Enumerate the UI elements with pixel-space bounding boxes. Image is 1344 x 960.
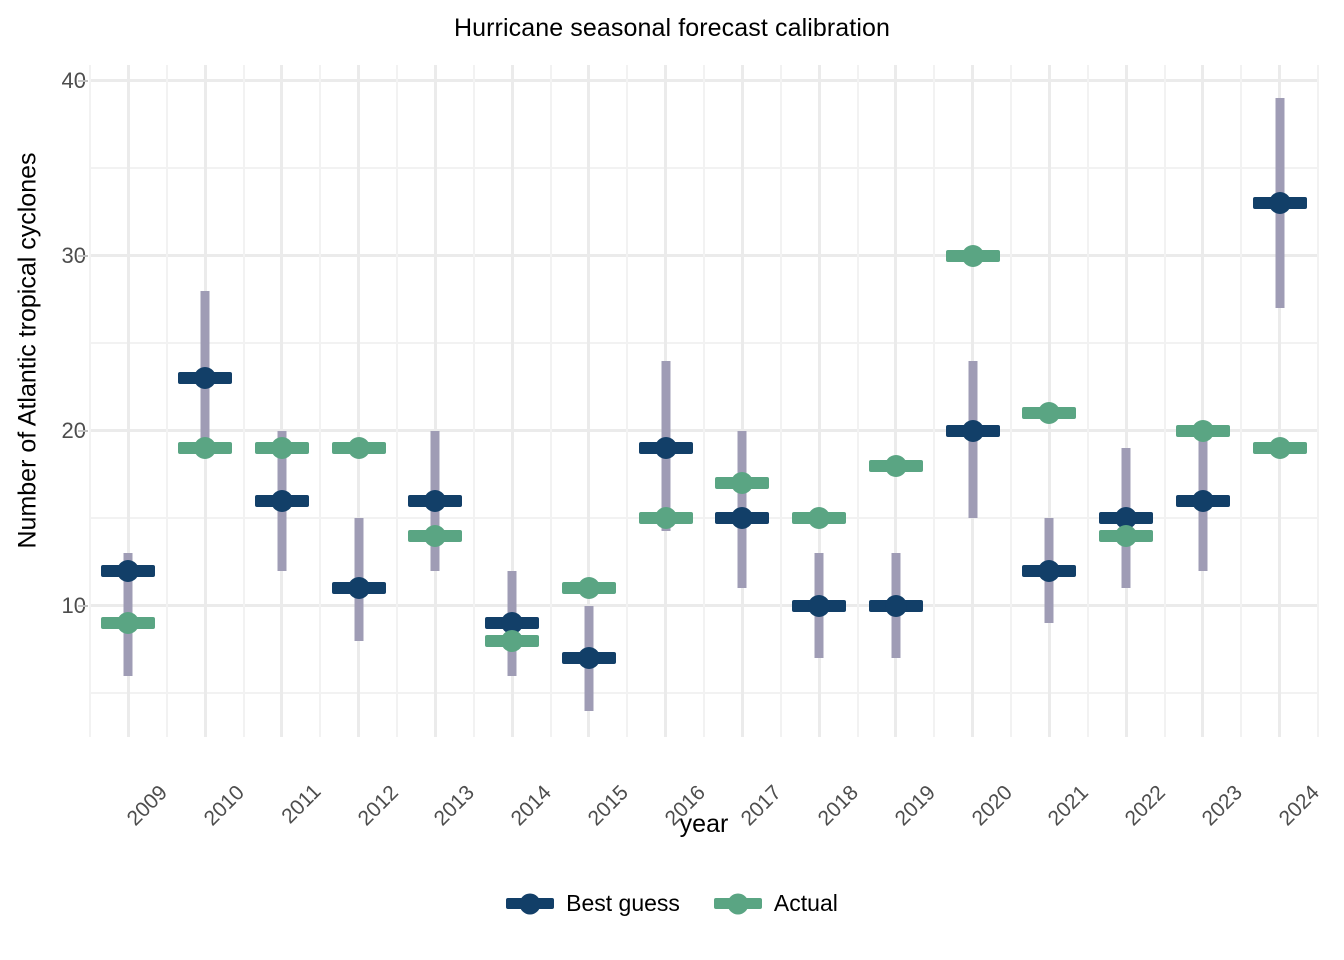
gridline-vertical-major [280, 65, 283, 737]
data-point-actual [255, 442, 309, 454]
data-point-dot [885, 595, 907, 617]
data-point-dot [501, 630, 523, 652]
y-tick-label: 10 [26, 593, 86, 619]
data-point-best-guess [255, 495, 309, 507]
y-tick-label: 40 [26, 68, 86, 94]
data-point-actual [562, 582, 616, 594]
data-point-dot [348, 437, 370, 459]
gridline-vertical-minor [473, 65, 475, 737]
data-point-dot [117, 612, 139, 634]
data-point-best-guess [178, 372, 232, 384]
data-point-actual [408, 530, 462, 542]
data-point-best-guess [715, 512, 769, 524]
data-point-dot [424, 525, 446, 547]
data-point-actual [101, 617, 155, 629]
plot-area [90, 65, 1318, 737]
legend-label: Actual [774, 890, 838, 917]
data-point-dot [578, 647, 600, 669]
gridline-vertical-minor [1240, 65, 1242, 737]
data-point-dot [348, 577, 370, 599]
gridline-vertical-major [434, 65, 437, 737]
data-point-dot [731, 507, 753, 529]
gridline-vertical-major [1201, 65, 1204, 737]
data-point-dot [1269, 192, 1291, 214]
data-point-dot [1192, 420, 1214, 442]
data-point-actual [1022, 407, 1076, 419]
data-point-best-guess [332, 582, 386, 594]
legend-item-best-guess[interactable]: Best guess [506, 890, 680, 917]
gridline-vertical-minor [1317, 65, 1319, 737]
data-point-best-guess [946, 425, 1000, 437]
data-point-actual [1099, 530, 1153, 542]
data-point-dot [655, 437, 677, 459]
gridline-vertical-minor [857, 65, 859, 737]
data-point-best-guess [101, 565, 155, 577]
data-point-dot [1269, 437, 1291, 459]
data-point-actual [1176, 425, 1230, 437]
gridline-vertical-minor [1010, 65, 1012, 737]
data-point-dot [578, 577, 600, 599]
data-point-dot [1038, 402, 1060, 424]
gridline-vertical-minor [89, 65, 91, 737]
data-point-dot [885, 455, 907, 477]
data-point-best-guess [1099, 512, 1153, 524]
gridline-vertical-minor [166, 65, 168, 737]
gridline-vertical-minor [933, 65, 935, 737]
gridline-vertical-major [1125, 65, 1128, 737]
data-point-best-guess [1176, 495, 1230, 507]
data-point-dot [194, 437, 216, 459]
data-point-dot [1038, 560, 1060, 582]
data-point-actual [1253, 442, 1307, 454]
data-point-dot [271, 490, 293, 512]
data-point-dot [424, 490, 446, 512]
data-point-dot [194, 367, 216, 389]
gridline-vertical-minor [1164, 65, 1166, 737]
legend-key-marker-icon [506, 898, 554, 909]
gridline-vertical-minor [780, 65, 782, 737]
data-point-best-guess [869, 600, 923, 612]
data-point-actual [485, 635, 539, 647]
data-point-best-guess [792, 600, 846, 612]
legend-key-dot [520, 893, 541, 914]
legend-key-dot [727, 893, 748, 914]
data-point-actual [178, 442, 232, 454]
data-point-actual [639, 512, 693, 524]
data-point-best-guess [485, 617, 539, 629]
chart-title: Hurricane seasonal forecast calibration [0, 14, 1344, 43]
chart-container: Hurricane seasonal forecast calibration … [0, 0, 1344, 960]
data-point-dot [808, 595, 830, 617]
gridline-vertical-minor [550, 65, 552, 737]
data-point-actual [869, 460, 923, 472]
gridline-vertical-minor [396, 65, 398, 737]
gridline-vertical-minor [626, 65, 628, 737]
legend-item-actual[interactable]: Actual [714, 890, 838, 917]
data-point-actual [792, 512, 846, 524]
legend-key-marker-icon [714, 898, 762, 909]
data-point-dot [271, 437, 293, 459]
data-point-dot [962, 420, 984, 442]
y-tick-label: 20 [26, 418, 86, 444]
data-point-dot [731, 472, 753, 494]
data-point-actual [715, 477, 769, 489]
y-tick-mark [78, 605, 88, 607]
gridline-vertical-minor [703, 65, 705, 737]
legend-label: Best guess [566, 890, 680, 917]
data-point-dot [1115, 525, 1137, 547]
y-tick-mark [78, 80, 88, 82]
data-point-best-guess [408, 495, 462, 507]
data-point-best-guess [562, 652, 616, 664]
data-point-actual [332, 442, 386, 454]
gridline-vertical-major [1048, 65, 1051, 737]
gridline-vertical-major [741, 65, 744, 737]
data-point-dot [655, 507, 677, 529]
data-point-best-guess [639, 442, 693, 454]
gridline-vertical-minor [1087, 65, 1089, 737]
gridline-vertical-minor [243, 65, 245, 737]
y-axis-title-text: Number of Atlantic tropical cyclones [14, 152, 43, 548]
data-point-actual [946, 250, 1000, 262]
data-point-dot [117, 560, 139, 582]
data-point-best-guess [1022, 565, 1076, 577]
y-tick-label: 30 [26, 243, 86, 269]
data-point-best-guess [1253, 197, 1307, 209]
data-point-dot [808, 507, 830, 529]
gridline-vertical-minor [319, 65, 321, 737]
y-tick-mark [78, 255, 88, 257]
y-tick-mark [78, 430, 88, 432]
data-point-dot [1192, 490, 1214, 512]
chart-legend: Best guessActual [0, 890, 1344, 917]
data-point-dot [962, 245, 984, 267]
